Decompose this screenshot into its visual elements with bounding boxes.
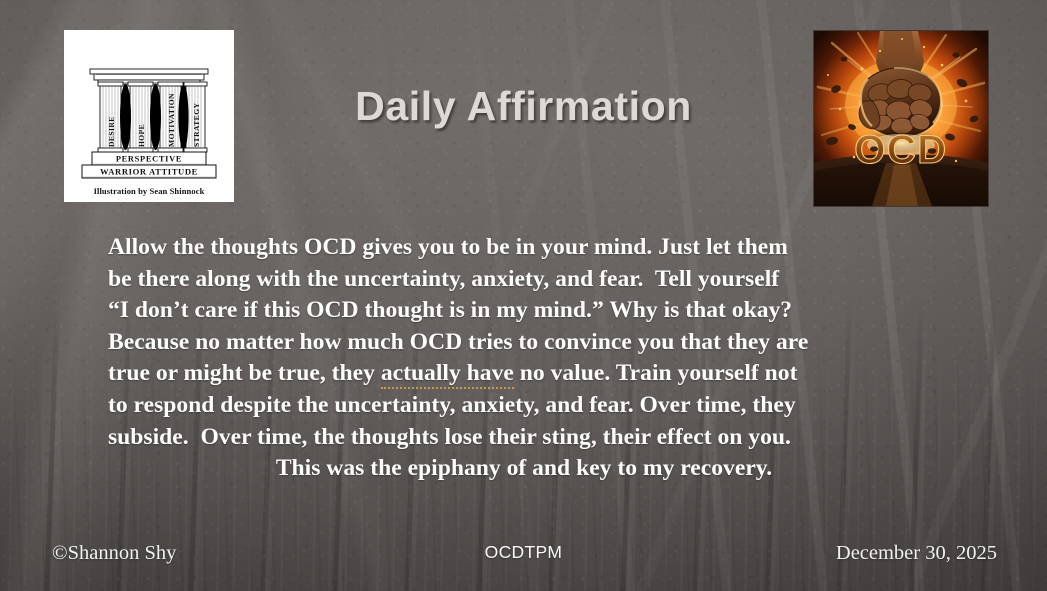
affirmation-line: Allow the thoughts OCD gives you to be i… — [108, 232, 940, 264]
plinth-label-perspective: PERSPECTIVE — [116, 154, 182, 163]
affirmation-line: true or might be true, they actually hav… — [108, 358, 940, 390]
plinth-label-warrior-attitude: WARRIOR ATTITUDE — [100, 167, 198, 177]
affirmation-line: Because no matter how much OCD tries to … — [108, 327, 940, 359]
affirmation-line: subside. Over time, the thoughts lose th… — [108, 422, 940, 454]
date-label: December 30, 2025 — [836, 542, 997, 565]
affirmation-line: to respond despite the uncertainty, anxi… — [108, 390, 940, 422]
grammar-flagged-phrase: actually have — [381, 360, 514, 389]
page-title: Daily Affirmation — [0, 83, 1047, 130]
affirmation-line: be there along with the uncertainty, anx… — [108, 264, 940, 296]
logo-caption: Illustration by Sean Shinnock — [94, 186, 205, 196]
affirmation-text: Allow the thoughts OCD gives you to be i… — [108, 232, 940, 485]
affirmation-line-head: true or might be true, they — [108, 360, 381, 386]
slide-canvas: DESIRE HOPE MOTIVATION STRATEGY PERSPECT… — [0, 0, 1047, 591]
affirmation-line: “I don’t care if this OCD thought is in … — [108, 295, 940, 327]
affirmation-line-tail: no value. Train yourself not — [514, 360, 798, 386]
affirmation-line: This was the epiphany of and key to my r… — [108, 453, 940, 485]
